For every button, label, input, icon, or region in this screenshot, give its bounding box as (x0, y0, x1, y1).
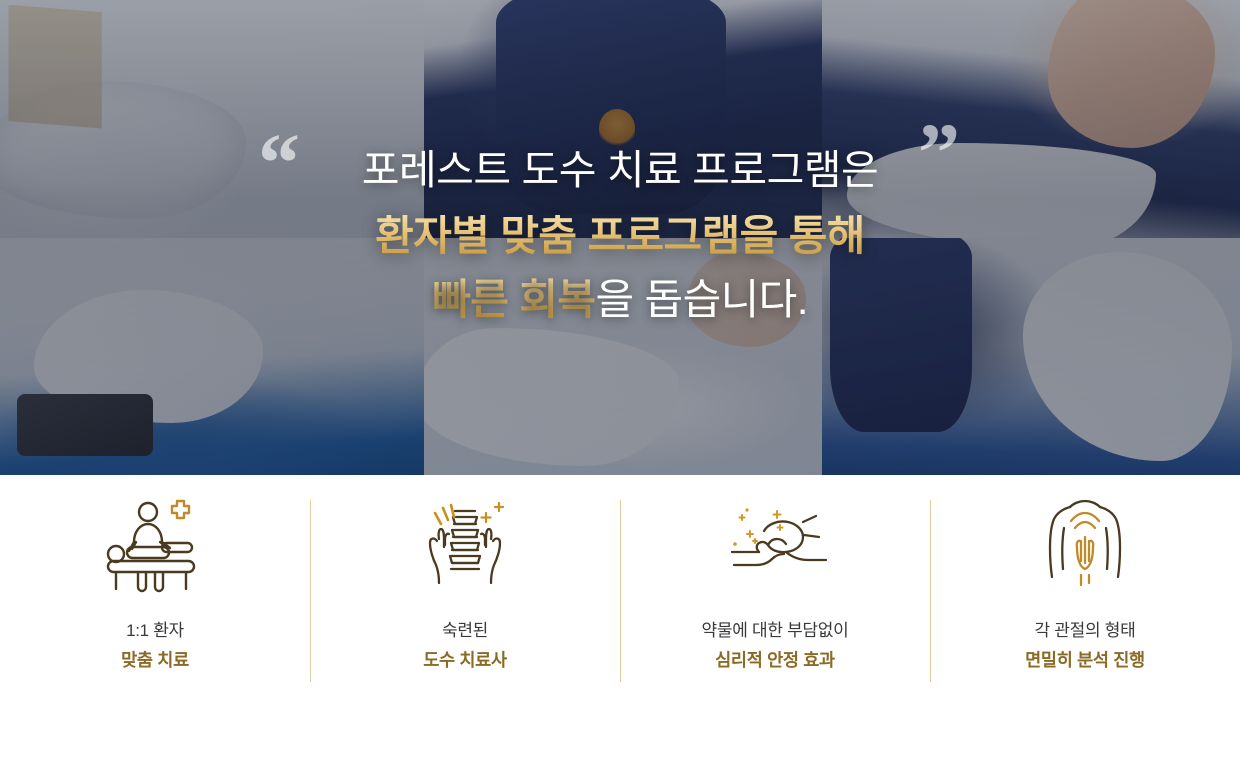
feature-item-3[interactable]: 약물에 대한 부담없이 심리적 안정 효과 (620, 475, 930, 673)
feature-bottom-label-2: 도수 치료사 (423, 648, 507, 673)
feature-bottom-label-3: 심리적 안정 효과 (702, 648, 849, 673)
feature-item-2[interactable]: 숙련된 도수 치료사 (310, 475, 620, 673)
feature-top-label-1: 1:1 환자 (121, 619, 189, 644)
feature-item-1[interactable]: 1:1 환자 맞춤 치료 (0, 475, 310, 673)
hands-holding-spine-icon (409, 493, 521, 597)
feature-top-label-2: 숙련된 (423, 619, 507, 644)
therapist-treating-patient-on-table-icon (99, 493, 211, 597)
feature-highlights: 1:1 환자 맞춤 치료 (0, 475, 1240, 780)
headline-line-3-plain: 을 돕습니다. (595, 276, 807, 323)
feature-top-label-3: 약물에 대한 부담없이 (702, 619, 849, 644)
feature-top-label-4: 각 관절의 형태 (1025, 619, 1145, 644)
feature-label-2: 숙련된 도수 치료사 (423, 619, 507, 673)
feature-label-1: 1:1 환자 맞춤 치료 (121, 619, 189, 673)
feature-item-4[interactable]: 각 관절의 형태 면밀히 분석 진행 (930, 475, 1240, 673)
feature-bottom-label-4: 면밀히 분석 진행 (1025, 648, 1145, 673)
headline-line-1: 포레스트 도수 치료 프로그램은 (362, 150, 879, 191)
feature-bottom-label-1: 맞춤 치료 (121, 648, 189, 673)
hero-headline-block: 포레스트 도수 치료 프로그램은 환자별 맞춤 프로그램을 통해 빠른 회복을 … (0, 0, 1240, 475)
back-torso-hand-pressing-spine-icon (1029, 493, 1141, 597)
feature-label-4: 각 관절의 형태 면밀히 분석 진행 (1025, 619, 1145, 673)
headline-line-3: 빠른 회복을 돕습니다. (432, 279, 808, 321)
headline-line-2: 환자별 맞춤 프로그램을 통해 (375, 215, 865, 257)
feature-label-3: 약물에 대한 부담없이 심리적 안정 효과 (702, 619, 849, 673)
headline-line-3-gold: 빠른 회복 (432, 276, 595, 323)
hero-banner: “ ” 포레스트 도수 치료 프로그램은 환자별 맞춤 프로그램을 통해 빠른 … (0, 0, 1240, 475)
relaxed-head-in-hand-icon (719, 493, 831, 597)
